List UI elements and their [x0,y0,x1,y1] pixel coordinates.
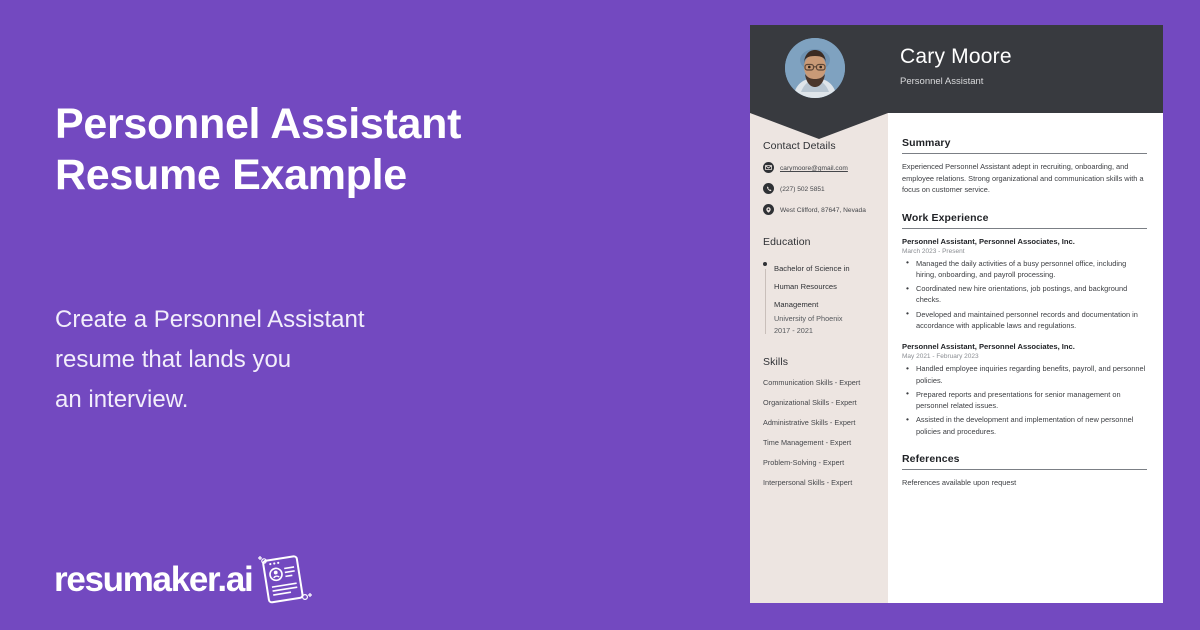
logo-wordmark: resumaker.ai [54,560,252,600]
references-heading: References [902,453,1147,469]
resume-document-icon [254,552,316,608]
skill-item: Interpersonal Skills - Expert [763,478,876,487]
resume-preview-card[interactable]: Cary Moore Personnel Assistant Contact D… [750,25,1163,603]
resume-header: Cary Moore Personnel Assistant [750,25,1163,113]
resume-sidebar: Contact Details carymoore@gmail.com [750,113,888,603]
summary-heading: Summary [902,137,1147,153]
summary-text: Experienced Personnel Assistant adept in… [902,161,1147,196]
promo-subheading: Create a Personnel Assistant resume that… [55,300,615,420]
contact-item-address[interactable]: West Clifford, 87647, Nevada [763,204,876,216]
skill-item: Administrative Skills - Expert [763,418,876,427]
section-divider [902,469,1147,470]
contact-section: Contact Details carymoore@gmail.com [763,140,876,216]
resume-job-title: Personnel Assistant [900,76,983,87]
job-title: Personnel Assistant, Personnel Associate… [902,236,1147,247]
job-dates: May 2021 - February 2023 [902,353,1147,360]
envelope-icon [763,162,774,173]
work-experience-section: Work Experience Personnel Assistant, Per… [902,212,1147,438]
job-bullet: Coordinated new hire orientations, job p… [902,283,1147,306]
section-divider [902,228,1147,229]
job-bullet-list: Managed the daily activities of a busy p… [902,258,1147,332]
contact-heading: Contact Details [763,140,876,152]
promo-panel: Personnel Assistant Resume Example Creat… [0,0,750,630]
education-bullet-gutter [763,258,774,336]
education-item: Bachelor of Science in Human Resources M… [763,258,876,336]
job-title: Personnel Assistant, Personnel Associate… [902,341,1147,352]
summary-section: Summary Experienced Personnel Assistant … [902,137,1147,196]
job-bullet: Prepared reports and presentations for s… [902,389,1147,412]
job-bullet-list: Handled employee inquiries regarding ben… [902,363,1147,437]
header-notch [750,113,888,139]
work-experience-heading: Work Experience [902,212,1147,228]
resume-main-column: Summary Experienced Personnel Assistant … [888,113,1163,603]
skill-item: Problem-Solving - Expert [763,458,876,467]
contact-address-text: West Clifford, 87647, Nevada [780,204,866,216]
skill-item: Time Management - Expert [763,438,876,447]
education-years: 2017 - 2021 [774,325,876,337]
job-bullet: Handled employee inquiries regarding ben… [902,363,1147,386]
contact-phone-text: (227) 502 5851 [780,183,825,195]
bullet-dot-icon [763,262,767,266]
contact-email-text: carymoore@gmail.com [780,162,848,174]
contact-item-phone[interactable]: (227) 502 5851 [763,183,876,195]
skills-heading: Skills [763,356,876,368]
job-bullet: Managed the daily activities of a busy p… [902,258,1147,281]
skill-item: Communication Skills - Expert [763,378,876,387]
resume-body: Contact Details carymoore@gmail.com [750,113,1163,603]
job-bullet: Developed and maintained personnel recor… [902,309,1147,332]
promo-headline: Personnel Assistant Resume Example [55,99,675,201]
job-dates: March 2023 - Present [902,248,1147,255]
education-details: Bachelor of Science in Human Resources M… [774,258,876,336]
education-degree: Bachelor of Science in Human Resources M… [774,264,850,309]
references-text: References available upon request [902,477,1147,489]
phone-icon [763,183,774,194]
education-heading: Education [763,236,876,248]
job-entry: Personnel Assistant, Personnel Associate… [902,236,1147,332]
avatar [785,38,845,98]
section-divider [902,153,1147,154]
contact-item-email[interactable]: carymoore@gmail.com [763,162,876,174]
resumaker-logo[interactable]: resumaker.ai [54,552,316,608]
location-pin-icon [763,204,774,215]
education-section: Education Bachelor of Science in Human R… [763,236,876,336]
job-bullet: Assisted in the development and implemen… [902,414,1147,437]
job-entry: Personnel Assistant, Personnel Associate… [902,341,1147,437]
education-school: University of Phoenix [774,313,876,325]
timeline-line [765,269,766,334]
resume-name: Cary Moore [900,45,1012,69]
skill-item: Organizational Skills - Expert [763,398,876,407]
skills-section: Skills Communication Skills - Expert Org… [763,356,876,487]
references-section: References References available upon req… [902,453,1147,489]
